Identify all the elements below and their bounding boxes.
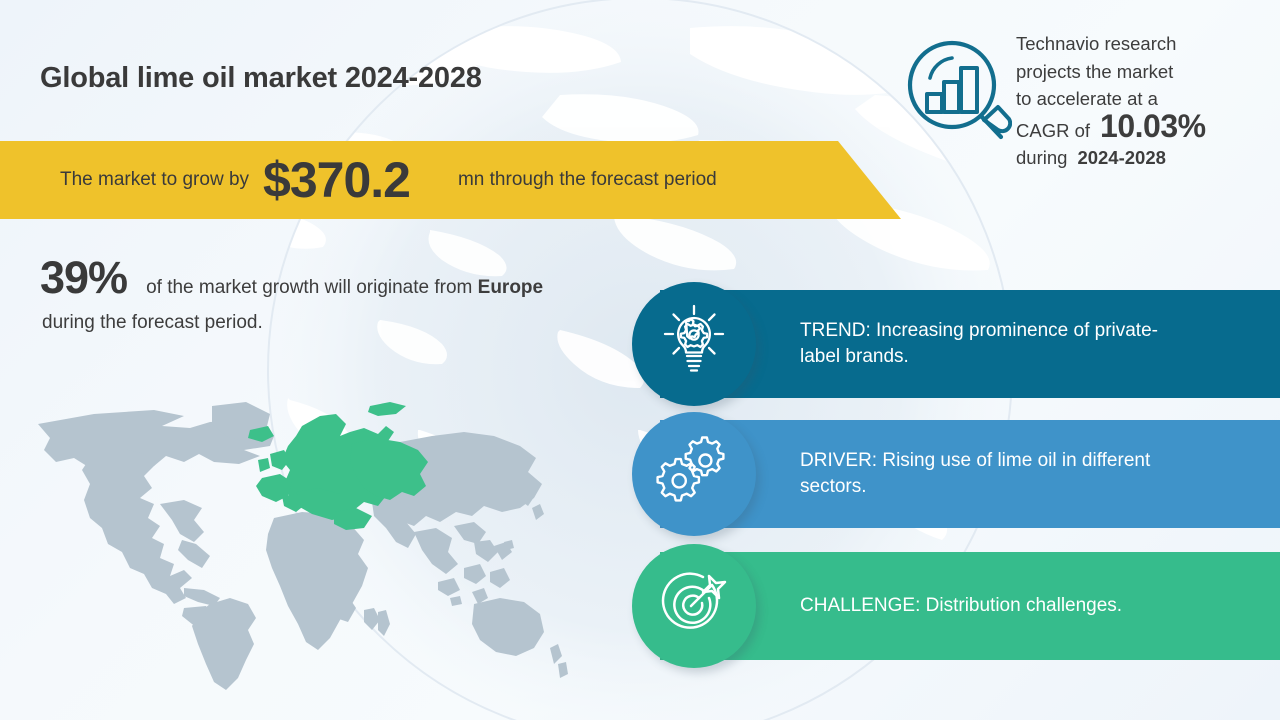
target-arrow-icon: [657, 567, 731, 646]
driver-card[interactable]: DRIVER: Rising use of lime oil in differ…: [660, 420, 1280, 528]
region-stat-region: Europe: [478, 277, 543, 298]
cagr-value-row: CAGR of 10.03%: [1016, 113, 1266, 145]
cagr-block: Technavio research projects the market t…: [1016, 30, 1266, 172]
gears-icon: [656, 436, 732, 513]
cagr-line-2: projects the market: [1016, 58, 1266, 86]
cagr-line-1: Technavio research: [1016, 30, 1266, 58]
cagr-during-label: during: [1016, 144, 1067, 172]
challenge-card[interactable]: CHALLENGE: Distribution challenges.: [660, 552, 1280, 660]
challenge-card-badge: [632, 544, 756, 668]
banner-prefix-label: The market to grow by: [60, 169, 249, 191]
magnifier-bar-chart-icon: [900, 38, 1012, 148]
lightbulb-gear-icon: [657, 304, 731, 385]
trend-card-badge: [632, 282, 756, 406]
growth-banner-text: The market to grow by $370.2 mn through …: [0, 141, 838, 219]
banner-growth-value: $370.2: [263, 151, 410, 209]
region-stat-text: of the market growth will originate from…: [146, 277, 543, 299]
region-stat-percent: 39%: [40, 252, 127, 304]
infographic-canvas: Global lime oil market 2024-2028 The mar…: [0, 0, 1280, 720]
banner-suffix-label: mn through the forecast period: [458, 169, 717, 191]
cagr-value: 10.03%: [1100, 113, 1206, 141]
region-stat-line-2: during the forecast period.: [42, 312, 640, 334]
region-stat-line-1: 39% of the market growth will originate …: [40, 252, 640, 304]
page-title: Global lime oil market 2024-2028: [40, 62, 482, 95]
driver-card-label: DRIVER: Rising use of lime oil in differ…: [800, 448, 1180, 500]
world-map: [34, 392, 594, 692]
cagr-label: CAGR of: [1016, 117, 1090, 145]
trend-card-label: TREND: Increasing prominence of private-…: [800, 318, 1180, 370]
driver-card-badge: [632, 412, 756, 536]
challenge-card-label: CHALLENGE: Distribution challenges.: [800, 593, 1122, 619]
region-stat-block: 39% of the market growth will originate …: [40, 252, 640, 334]
region-stat-text-before: of the market growth will originate from: [146, 277, 472, 298]
cagr-period: 2024-2028: [1077, 144, 1165, 172]
trend-card[interactable]: TREND: Increasing prominence of private-…: [660, 290, 1280, 398]
cagr-period-row: during 2024-2028: [1016, 144, 1266, 172]
